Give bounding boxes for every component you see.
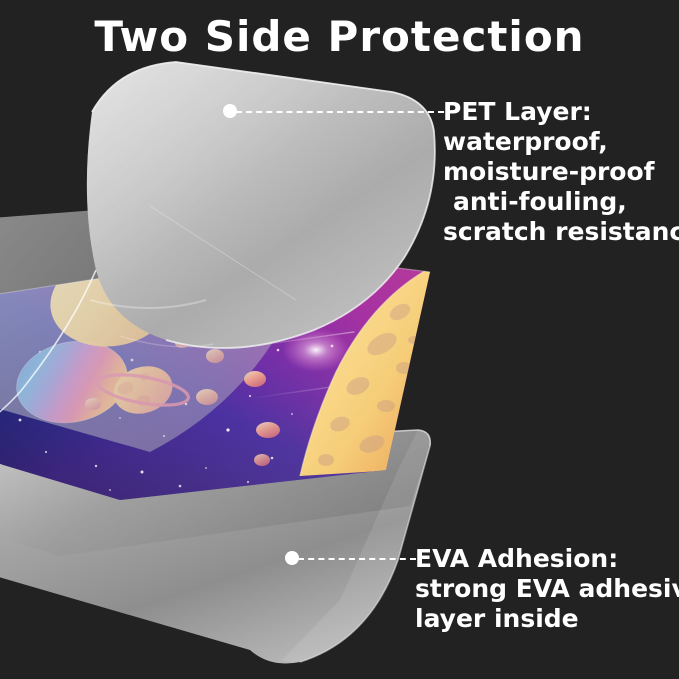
pet-callout-line-2: moisture-proof: [443, 157, 679, 187]
infographic-canvas: Two Side Protection: [0, 0, 679, 679]
eva-callout-text: EVA Adhesion: strong EVA adhesive layer …: [415, 544, 679, 634]
eva-callout-dot: [285, 551, 299, 565]
pet-callout-dot: [223, 104, 237, 118]
pet-callout-line-1: waterproof,: [443, 127, 679, 157]
eva-callout-line-1: strong EVA adhesive: [415, 574, 679, 604]
page-title: Two Side Protection: [0, 12, 679, 61]
eva-callout-line-2: layer inside: [415, 604, 679, 634]
eva-callout-leader-line: [298, 558, 416, 560]
eva-callout-heading: EVA Adhesion:: [415, 544, 679, 574]
pet-callout-heading: PET Layer:: [443, 97, 679, 127]
pet-callout-leader-line: [236, 111, 444, 113]
pet-callout-line-3: anti-fouling,: [443, 187, 679, 217]
pet-callout-line-4: scratch resistance: [443, 217, 679, 247]
pet-callout-text: PET Layer: waterproof, moisture-proof an…: [443, 97, 679, 247]
